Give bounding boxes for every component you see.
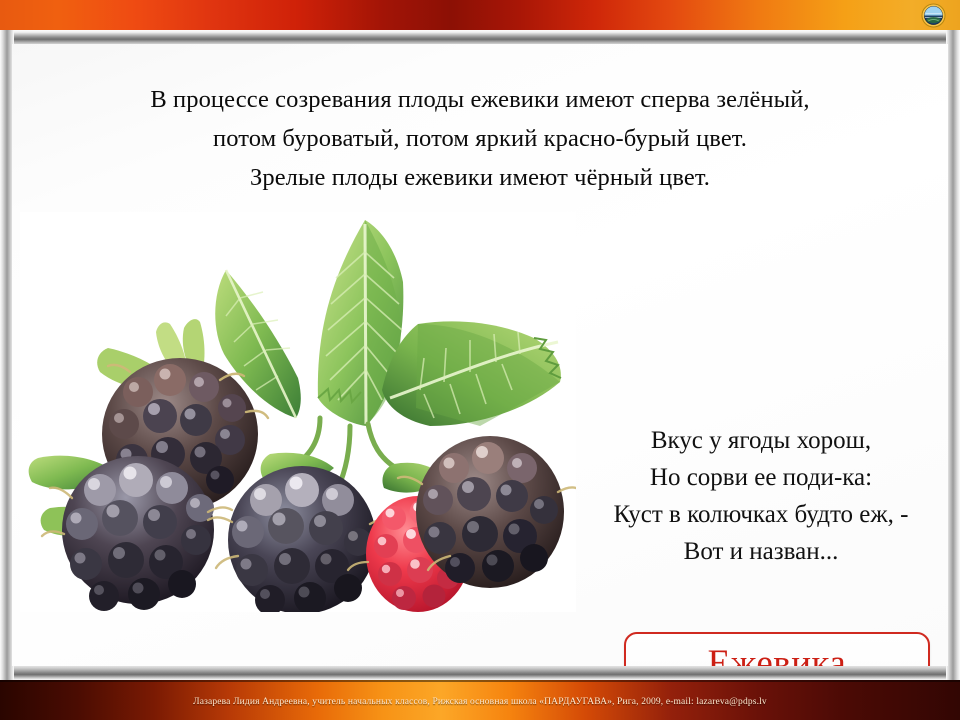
globe-icon[interactable] — [921, 3, 946, 28]
lead-line-1: В процессе созревания плоды ежевики имею… — [34, 80, 926, 119]
blackberry-illustration — [20, 212, 576, 612]
answer-label: Ежевика — [708, 645, 847, 667]
frame-bevel-right — [946, 30, 960, 680]
frame-bevel-bottom — [0, 664, 960, 680]
lead-line-3: Зрелые плоды ежевики имеют чёрный цвет. — [34, 158, 926, 197]
poem-line-1: Вкус у ягоды хорош, — [572, 422, 948, 459]
lead-paragraph: В процессе созревания плоды ежевики имею… — [34, 80, 926, 197]
answer-box[interactable]: Ежевика — [624, 632, 930, 666]
slide-content-panel: В процессе созревания плоды ежевики имею… — [12, 44, 948, 666]
poem-line-3: Куст в колючках будто еж, - — [572, 496, 948, 533]
poem-riddle: Вкус у ягоды хорош, Но сорви ее поди-ка:… — [572, 422, 948, 570]
lead-line-2: потом буроватый, потом яркий красно-буры… — [34, 119, 926, 158]
poem-line-4: Вот и назван... — [572, 533, 948, 570]
poem-line-2: Но сорви ее поди-ка: — [572, 459, 948, 496]
footer-credit: Лазарева Лидия Андреевна, учитель началь… — [0, 697, 960, 707]
slide-background: В процессе созревания плоды ежевики имею… — [0, 0, 960, 720]
